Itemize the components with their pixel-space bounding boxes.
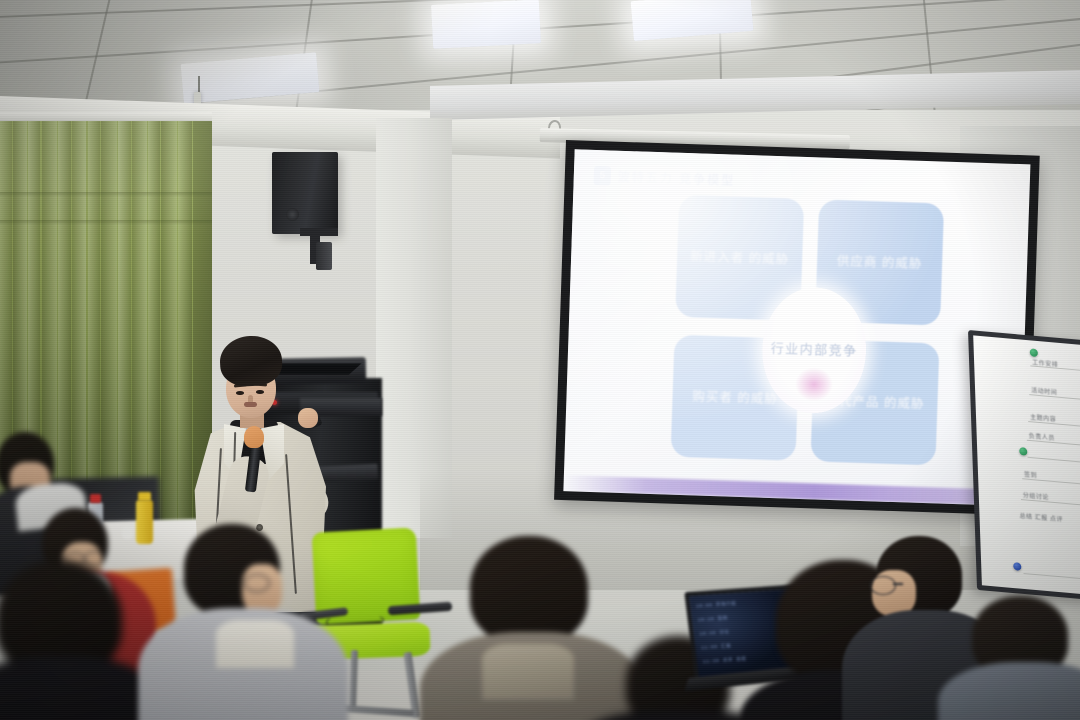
whiteboard-surface: 工作安排 活动时间 主题内容 负责人员 签到 分组讨论 总结 汇报 点评 <box>973 335 1080 595</box>
speaker-mount <box>316 242 332 270</box>
whiteboard-line-text: 总结 汇报 点评 <box>1019 511 1063 524</box>
eyeglasses <box>870 576 896 595</box>
slide: 5 波特五力 竞争模型 新进入者 的威胁 供应商 的威胁 购买者 的威胁 替代产… <box>563 149 1030 506</box>
slide-number-badge: 5 <box>594 166 612 186</box>
magnet-blue <box>1013 562 1021 571</box>
bottle-cap <box>138 492 151 501</box>
audience-head <box>470 536 588 644</box>
photo-scene: 5 波特五力 竞争模型 新进入者 的威胁 供应商 的威胁 购买者 的威胁 替代产… <box>0 0 1080 720</box>
slide-decorative-band <box>563 475 1019 506</box>
slide-title: 波特五力 竞争模型 <box>618 168 736 189</box>
projector-screen: 5 波特五力 竞争模型 新进入者 的威胁 供应商 的威胁 购买者 的威胁 替代产… <box>554 140 1040 516</box>
quadrant-label: 购买者 的威胁 <box>692 388 778 408</box>
magnet-green <box>1019 447 1027 456</box>
magnet-green <box>1030 348 1038 357</box>
presenter-right-hand <box>298 408 318 428</box>
eyeglasses <box>244 574 270 592</box>
slide-header: 5 波特五力 竞争模型 <box>594 166 736 190</box>
presenter-hair <box>219 334 284 387</box>
quadrant-label: 新进入者 的威胁 <box>690 248 789 268</box>
projector-screen-surface: 5 波特五力 竞争模型 新进入者 的威胁 供应商 的威胁 购买者 的威胁 替代产… <box>563 149 1030 506</box>
presenter-left-hand <box>244 426 264 448</box>
curtain-rail <box>0 112 212 121</box>
audience-member <box>948 596 1080 720</box>
audience-body <box>938 662 1080 720</box>
porters-five-forces-diagram: 新进入者 的威胁 供应商 的威胁 购买者 的威胁 替代产品 的威胁 行业内部竞争 <box>671 195 960 466</box>
presenter-mouth <box>244 402 257 407</box>
bottle-cap <box>90 494 101 503</box>
speaker-cone <box>286 208 299 221</box>
audience-member <box>148 524 328 720</box>
center-label: 行业内部竞争 <box>770 339 858 361</box>
quadrant-label: 供应商 的威胁 <box>837 253 923 273</box>
wall-speaker <box>272 152 338 234</box>
